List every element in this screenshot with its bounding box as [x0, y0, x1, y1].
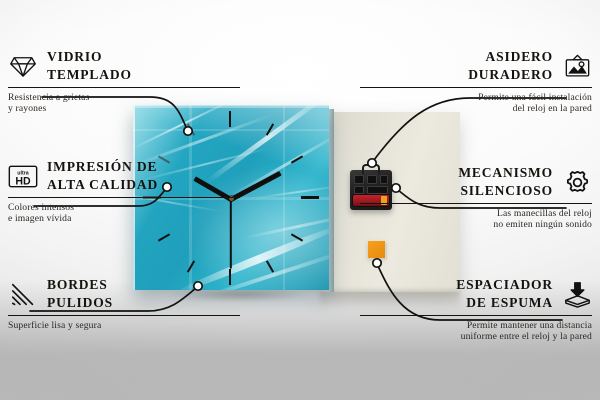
feature-rule	[8, 197, 240, 198]
feature-rule	[360, 87, 592, 88]
feature-bordes-pulidos: BORDES PULIDOS Superficie lisa y segura	[8, 276, 240, 331]
gear-icon	[562, 167, 592, 197]
feature-rule	[360, 315, 592, 316]
feature-title: MECANISMO SILENCIOSO	[458, 164, 553, 200]
feature-espaciador-de-espuma: ESPACIADOR DE ESPUMA Permite mantener un…	[360, 276, 592, 343]
polished-edge-icon	[8, 279, 38, 309]
feature-description: Colores intensos e imagen vívida	[8, 202, 240, 225]
feature-rule	[8, 315, 240, 316]
feature-title: VIDRIO TEMPLADO	[47, 48, 132, 84]
feature-title: ASIDERO DURADERO	[468, 48, 553, 84]
foam-spacer	[368, 241, 385, 258]
feature-mecanismo-silencioso: MECANISMO SILENCIOSO Las manecillas del …	[360, 164, 592, 231]
ultra-hd-icon: ultra HD	[8, 161, 38, 191]
hanging-frame-icon	[562, 51, 592, 81]
feature-asidero-duradero: ASIDERO DURADERO Permite una fácil insta…	[360, 48, 592, 115]
feature-rule	[360, 203, 592, 204]
feature-rule	[8, 87, 240, 88]
feature-description: Las manecillas del reloj no emiten ningú…	[360, 208, 592, 231]
feature-title: ESPACIADOR DE ESPUMA	[456, 276, 553, 312]
foam-spacer-icon	[562, 279, 592, 309]
feature-vidrio-templado: VIDRIO TEMPLADO Resistencia a grietas y …	[8, 48, 240, 115]
feature-description: Superficie lisa y segura	[8, 320, 240, 331]
feature-impresion-alta-calidad: ultra HD IMPRESIÓN DE ALTA CALIDAD Color…	[8, 158, 240, 225]
feature-description: Permite mantener una distancia uniforme …	[360, 320, 592, 343]
glass-edge-thickness	[329, 109, 334, 292]
diamond-icon	[8, 51, 38, 81]
feature-description: Permite una fácil instalación del reloj …	[360, 92, 592, 115]
infographic-canvas: VIDRIO TEMPLADO Resistencia a grietas y …	[0, 0, 600, 400]
feature-title: BORDES PULIDOS	[47, 276, 113, 312]
feature-title: IMPRESIÓN DE ALTA CALIDAD	[47, 158, 158, 194]
feature-description: Resistencia a grietas y rayones	[8, 92, 240, 115]
svg-text:HD: HD	[15, 175, 31, 187]
